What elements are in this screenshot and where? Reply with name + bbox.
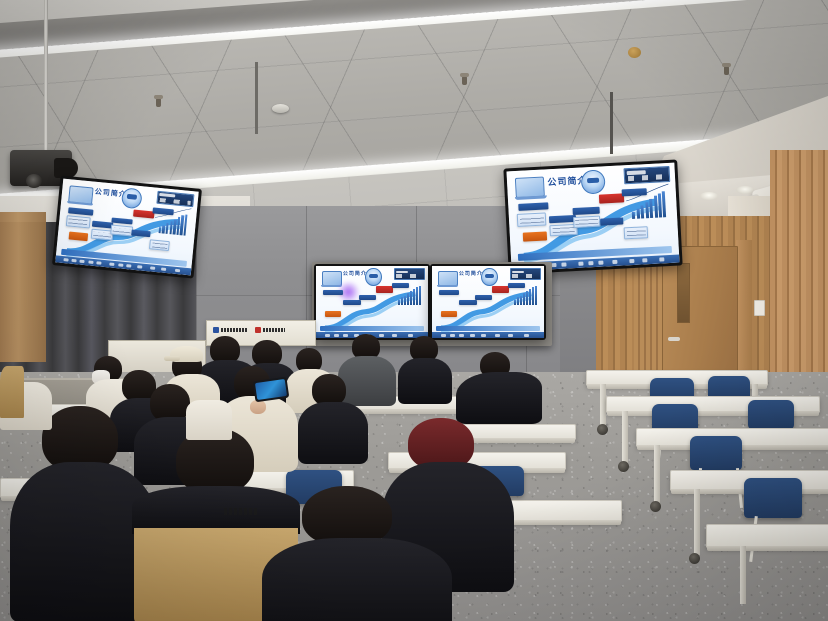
slide-window-buttons[interactable] [396, 274, 422, 277]
slide-card [492, 286, 509, 292]
display-right[interactable]: 公司简介 [503, 160, 682, 275]
whiteboard-logo-left [213, 326, 247, 333]
slide-card [517, 212, 547, 226]
display-left-screen: 公司简介 [55, 179, 198, 276]
slide-laptop-icon [515, 177, 545, 198]
display-right-screen: 公司简介 [506, 163, 679, 272]
slide-card [343, 300, 361, 305]
slide-footer-band [436, 326, 539, 331]
slide-card [110, 225, 133, 237]
slide-laptop-icon [322, 271, 342, 286]
slide-title: 公司简介 [459, 270, 483, 277]
slide-bar-chart [398, 286, 423, 305]
slide-window-buttons[interactable] [628, 174, 667, 181]
ceiling-rod [255, 62, 258, 134]
lecture-hall-photo: 公司简介 [0, 0, 828, 621]
slide-badge-icon [365, 268, 382, 286]
ceiling-vent-icon [628, 47, 641, 58]
light-switch-plate[interactable] [754, 300, 765, 316]
slide-title: 公司简介 [343, 270, 367, 277]
os-taskbar[interactable] [432, 332, 544, 338]
cap-brim [164, 356, 180, 361]
slide-card [439, 290, 459, 295]
slide-card [475, 295, 493, 300]
downlight-icon [700, 192, 718, 200]
display-left[interactable]: 公司简介 [52, 175, 202, 278]
slide-card [599, 193, 625, 203]
slide-canvas: 公司简介 [432, 266, 544, 338]
slide-card [573, 216, 601, 228]
slide-badge-icon [121, 187, 143, 209]
display-center-right[interactable]: 公司简介 [430, 264, 546, 340]
slide-window-overlay[interactable] [624, 166, 670, 184]
sprinkler-head-icon [724, 66, 729, 75]
table-caster [650, 501, 661, 512]
slide-bar-chart [514, 286, 539, 305]
table-caster [597, 424, 608, 435]
chair[interactable] [744, 478, 802, 518]
table-leg [740, 546, 746, 604]
jacket-logo [224, 508, 258, 515]
table-leg [694, 489, 700, 555]
table-row[interactable] [706, 524, 828, 548]
display-center-right-screen: 公司简介 [432, 266, 544, 338]
slide-card [459, 300, 477, 305]
slide-canvas: 公司简介 [316, 266, 428, 338]
projector-lens-icon [26, 174, 42, 188]
display-center-left-screen: 公司简介 [316, 266, 428, 338]
slide-card [376, 286, 393, 292]
slide-window-overlay[interactable] [394, 268, 425, 280]
slide-badge-icon [580, 169, 605, 194]
slide-card [523, 231, 547, 241]
table-leg [622, 411, 628, 463]
center-video-wall: 公司简介 [312, 262, 552, 346]
slide-footer-band [320, 326, 423, 331]
slide-laptop-icon [438, 271, 458, 286]
slide-laptop-icon [68, 185, 93, 204]
wall-wood-far-right [770, 150, 828, 410]
chair[interactable] [690, 436, 742, 470]
slide-canvas: 公司简介 [55, 179, 198, 276]
sprinkler-head-icon [462, 76, 467, 85]
slide-trend-line [625, 183, 670, 215]
slide-card [600, 217, 624, 225]
phone-screen [255, 379, 287, 400]
whiteboard-logo-right [255, 326, 285, 333]
hand [250, 400, 266, 414]
slide-window-buttons[interactable] [512, 274, 538, 277]
door-vision-panel [677, 263, 690, 323]
display-center-left[interactable]: 公司简介 [314, 264, 430, 340]
slide-window-buttons[interactable] [159, 198, 190, 205]
slide-card [359, 295, 377, 300]
slide-badge-icon [481, 268, 498, 286]
slide-card [624, 226, 648, 239]
slide-card [572, 207, 599, 215]
wall-wood-left [0, 212, 46, 362]
slide-card [323, 290, 343, 295]
chair[interactable] [748, 400, 794, 429]
table-leg [654, 445, 660, 503]
door-handle-icon[interactable] [668, 337, 680, 341]
slide-card [325, 311, 341, 317]
table-caster [689, 553, 700, 564]
slide-trend-line [154, 205, 192, 233]
projector-mount-pole [44, 0, 48, 152]
slide-canvas: 公司简介 [506, 163, 679, 272]
smoke-detector-icon [272, 104, 289, 113]
slide-card [441, 311, 457, 317]
table-caster [618, 461, 629, 472]
sprinkler-head-icon [156, 98, 161, 107]
ceiling-rod [610, 92, 613, 154]
slide-window-overlay[interactable] [510, 268, 541, 280]
